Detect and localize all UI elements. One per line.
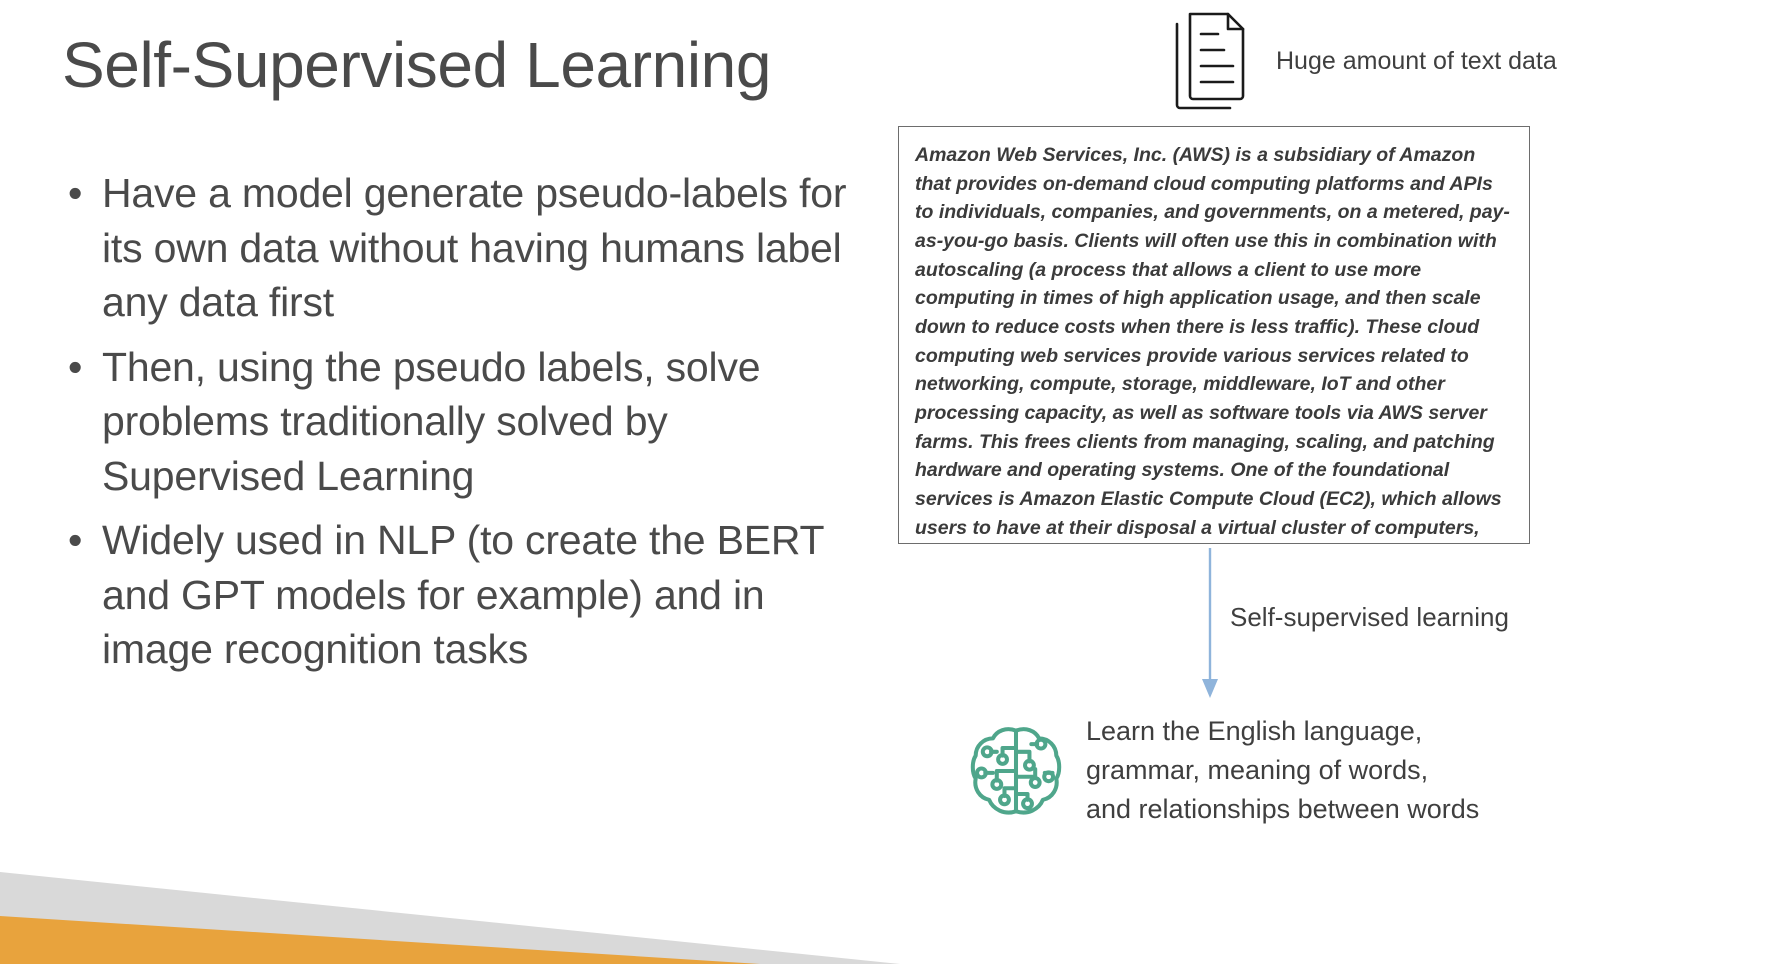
corpus-text-box: Amazon Web Services, Inc. (AWS) is a sub…	[898, 126, 1530, 544]
slide-right-column: Huge amount of text data Amazon Web Serv…	[890, 0, 1776, 964]
bullet-dot-icon: •	[68, 340, 82, 395]
page-title: Self-Supervised Learning	[62, 30, 771, 102]
document-stack-icon	[1168, 8, 1254, 114]
list-item: • Widely used in NLP (to create the BERT…	[60, 513, 860, 677]
slide-left-column: Self-Supervised Learning • Have a model …	[0, 0, 900, 964]
bullet-text: Then, using the pseudo labels, solve pro…	[102, 344, 760, 499]
data-source-caption: Huge amount of text data	[1276, 47, 1557, 76]
output-line: grammar, meaning of words,	[1086, 751, 1479, 790]
data-source-header: Huge amount of text data	[1168, 8, 1557, 114]
list-item: • Have a model generate pseudo-labels fo…	[60, 166, 860, 330]
brain-circuit-icon	[968, 723, 1064, 819]
learning-output-text: Learn the English language, grammar, mea…	[1086, 712, 1479, 829]
output-line: and relationships between words	[1086, 790, 1479, 829]
bullet-text: Have a model generate pseudo-labels for …	[102, 170, 846, 325]
down-arrow-icon	[1190, 548, 1230, 700]
bullet-dot-icon: •	[68, 166, 82, 221]
bullet-list: • Have a model generate pseudo-labels fo…	[60, 166, 860, 687]
corpus-paragraph: Amazon Web Services, Inc. (AWS) is a sub…	[915, 141, 1511, 544]
bullet-text: Widely used in NLP (to create the BERT a…	[102, 517, 824, 672]
learning-output-block: Learn the English language, grammar, mea…	[968, 712, 1479, 829]
list-item: • Then, using the pseudo labels, solve p…	[60, 340, 860, 504]
bullet-dot-icon: •	[68, 513, 82, 568]
output-line: Learn the English language,	[1086, 712, 1479, 751]
arrow-label: Self-supervised learning	[1230, 602, 1509, 633]
